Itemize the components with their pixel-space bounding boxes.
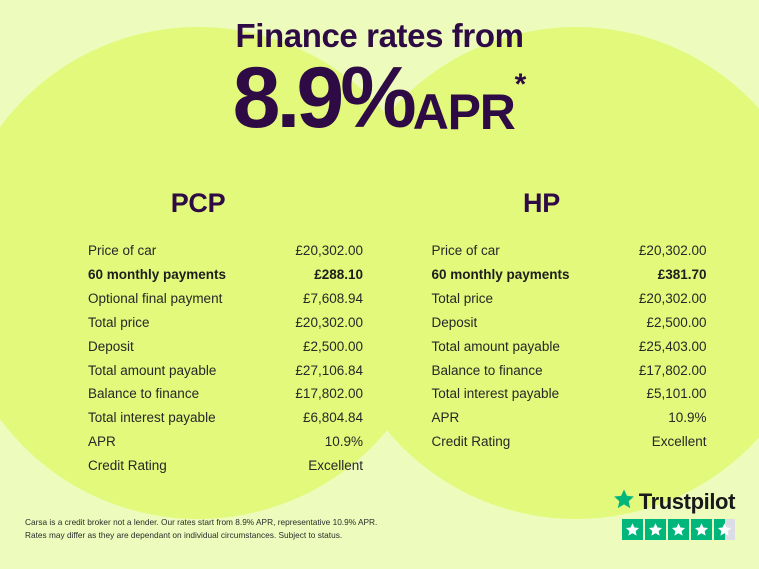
row-label: 60 monthly payments	[88, 268, 226, 282]
row-value: Excellent	[652, 435, 707, 449]
trustpilot-star-3	[668, 519, 689, 540]
row-value: £2,500.00	[646, 316, 706, 330]
table-row: Optional final payment£7,608.94	[88, 287, 363, 311]
finance-table-hp: Price of car£20,302.0060 monthly payment…	[432, 239, 707, 454]
row-value: £20,302.00	[295, 244, 363, 258]
trustpilot-star-icon	[613, 488, 635, 515]
row-value: £25,403.00	[639, 340, 707, 354]
row-value: £17,802.00	[295, 387, 363, 401]
row-label: Deposit	[432, 316, 478, 330]
row-label: Total amount payable	[432, 340, 560, 354]
promo-canvas: Finance rates from 8.9% APR * PCP Price …	[0, 0, 759, 569]
table-row: Total interest payable£6,804.84	[88, 406, 363, 430]
disclaimer-text: Carsa is a credit broker not a lender. O…	[25, 516, 445, 542]
row-label: APR	[432, 411, 460, 425]
headline-block: Finance rates from 8.9% APR *	[0, 18, 759, 141]
row-label: Total interest payable	[88, 411, 216, 425]
rate-unit: APR	[413, 88, 515, 141]
row-label: Price of car	[432, 244, 500, 258]
row-value: £17,802.00	[639, 364, 707, 378]
row-value: £6,804.84	[303, 411, 363, 425]
row-value: 10.9%	[668, 411, 706, 425]
finance-comparison: PCP Price of car£20,302.0060 monthly pay…	[0, 188, 759, 478]
finance-column-pcp: PCP Price of car£20,302.0060 monthly pay…	[0, 188, 380, 478]
table-row: APR10.9%	[432, 406, 707, 430]
trustpilot-rating-stars	[622, 519, 735, 540]
column-title-pcp: PCP	[88, 188, 363, 219]
finance-column-hp: HP Price of car£20,302.0060 monthly paym…	[380, 188, 759, 478]
table-row: Price of car£20,302.00	[88, 239, 363, 263]
table-row: Total interest payable£5,101.00	[432, 382, 707, 406]
row-label: Price of car	[88, 244, 156, 258]
table-row: Deposit£2,500.00	[88, 335, 363, 359]
disclaimer-line-2: Rates may differ as they are dependant o…	[25, 529, 445, 542]
table-row: APR10.9%	[88, 430, 363, 454]
row-value: £20,302.00	[295, 316, 363, 330]
row-label: Total interest payable	[432, 387, 560, 401]
table-row: Credit RatingExcellent	[88, 454, 363, 478]
page-title: Finance rates from	[0, 18, 759, 54]
trustpilot-star-5	[714, 519, 735, 540]
table-row: Total price£20,302.00	[432, 287, 707, 311]
row-label: Credit Rating	[88, 459, 167, 473]
row-value: £381.70	[658, 268, 707, 282]
table-row: Total price£20,302.00	[88, 311, 363, 335]
trustpilot-star-4	[691, 519, 712, 540]
trustpilot-star-1	[622, 519, 643, 540]
table-row: 60 monthly payments£288.10	[88, 263, 363, 287]
row-label: Deposit	[88, 340, 134, 354]
table-row: Balance to finance£17,802.00	[432, 358, 707, 382]
table-row: Deposit£2,500.00	[432, 311, 707, 335]
finance-table-pcp: Price of car£20,302.0060 monthly payment…	[88, 239, 363, 478]
row-label: Total price	[88, 316, 150, 330]
table-row: Total amount payable£25,403.00	[432, 335, 707, 359]
table-row: Price of car£20,302.00	[432, 239, 707, 263]
row-value: £5,101.00	[646, 387, 706, 401]
rate-display: 8.9% APR *	[0, 56, 759, 140]
table-row: Total amount payable£27,106.84	[88, 358, 363, 382]
row-label: APR	[88, 435, 116, 449]
row-label: Total price	[432, 292, 494, 306]
trustpilot-badge[interactable]: Trustpilot	[613, 488, 735, 540]
disclaimer-line-1: Carsa is a credit broker not a lender. O…	[25, 516, 445, 529]
row-label: Balance to finance	[432, 364, 543, 378]
row-label: Credit Rating	[432, 435, 511, 449]
rate-number: 8.9%	[233, 56, 413, 140]
table-row: Credit RatingExcellent	[432, 430, 707, 454]
table-row: 60 monthly payments£381.70	[432, 263, 707, 287]
row-value: £20,302.00	[639, 292, 707, 306]
row-label: 60 monthly payments	[432, 268, 570, 282]
row-label: Balance to finance	[88, 387, 199, 401]
row-value: 10.9%	[325, 435, 363, 449]
column-title-hp: HP	[432, 188, 707, 219]
row-value: £20,302.00	[639, 244, 707, 258]
row-value: £7,608.94	[303, 292, 363, 306]
asterisk-mark: *	[515, 56, 527, 100]
row-value: Excellent	[308, 459, 363, 473]
trustpilot-wordmark: Trustpilot	[613, 488, 735, 515]
row-value: £2,500.00	[303, 340, 363, 354]
row-label: Optional final payment	[88, 292, 222, 306]
row-value: £27,106.84	[295, 364, 363, 378]
table-row: Balance to finance£17,802.00	[88, 382, 363, 406]
trustpilot-star-2	[645, 519, 666, 540]
trustpilot-name: Trustpilot	[639, 491, 735, 513]
row-label: Total amount payable	[88, 364, 216, 378]
row-value: £288.10	[314, 268, 363, 282]
